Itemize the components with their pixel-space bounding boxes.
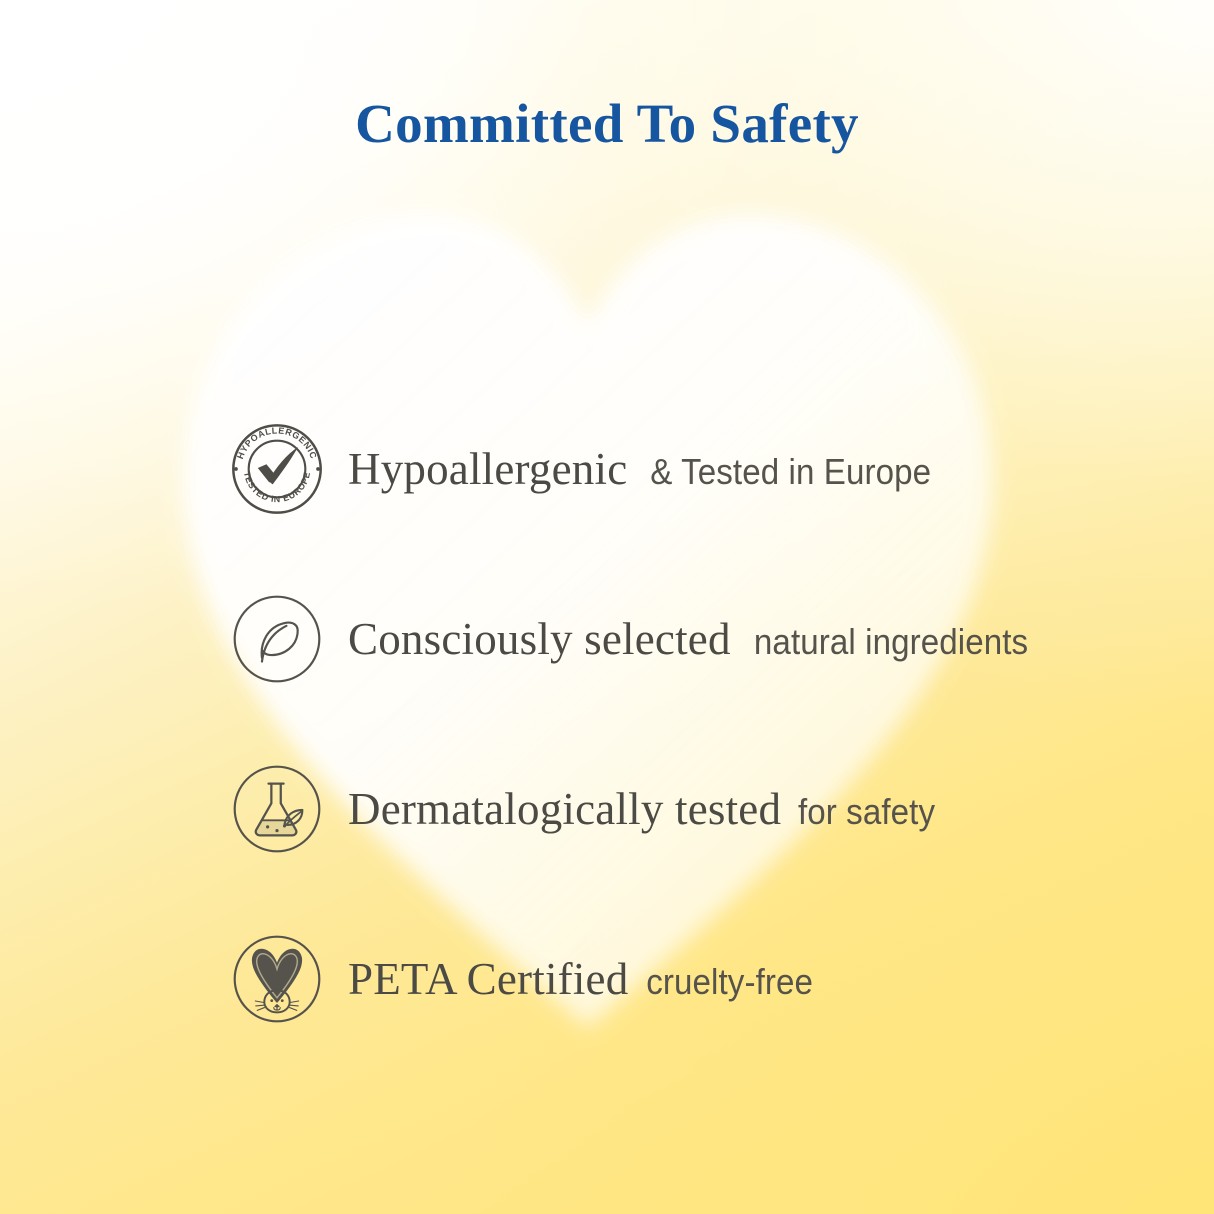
safety-claims-panel: Committed To Safety HYPOALLERGENIC — [0, 0, 1214, 1214]
claim-text: PETA Certified cruelty-free — [348, 957, 821, 1002]
peta-bunny-heart-icon — [228, 930, 326, 1028]
claim-strong: PETA Certified — [348, 957, 628, 1002]
list-item: Consciously selected natural ingredients — [228, 554, 1188, 724]
leaf-icon — [228, 590, 326, 688]
claim-rest: cruelty-free — [647, 964, 814, 1000]
claim-rest: for safety — [798, 794, 935, 830]
list-item: PETA Certified cruelty-free — [228, 894, 1188, 1064]
claim-rest: natural ingredients — [754, 624, 1028, 660]
claims-list: HYPOALLERGENIC TESTED IN EUROPE Hypoalle… — [228, 384, 1188, 1064]
claim-strong: Consciously selected — [348, 617, 731, 662]
claim-rest: & Tested in Europe — [651, 454, 932, 490]
svg-text:HYPOALLERGENIC: HYPOALLERGENIC — [235, 425, 319, 460]
list-item: Dermatalogically tested for safety — [228, 724, 1188, 894]
hypoallergenic-tested-in-europe-badge-icon: HYPOALLERGENIC TESTED IN EUROPE — [228, 420, 326, 518]
list-item: HYPOALLERGENIC TESTED IN EUROPE Hypoalle… — [228, 384, 1188, 554]
flask-with-leaf-icon — [228, 760, 326, 858]
claim-text: Consciously selected natural ingredients — [348, 617, 1040, 662]
page-title: Committed To Safety — [0, 92, 1214, 155]
claim-strong: Hypoallergenic — [348, 447, 627, 492]
claim-text: Dermatalogically tested for safety — [348, 787, 941, 832]
claim-strong: Dermatalogically tested — [348, 787, 781, 832]
claim-text: Hypoallergenic & Tested in Europe — [348, 447, 944, 492]
